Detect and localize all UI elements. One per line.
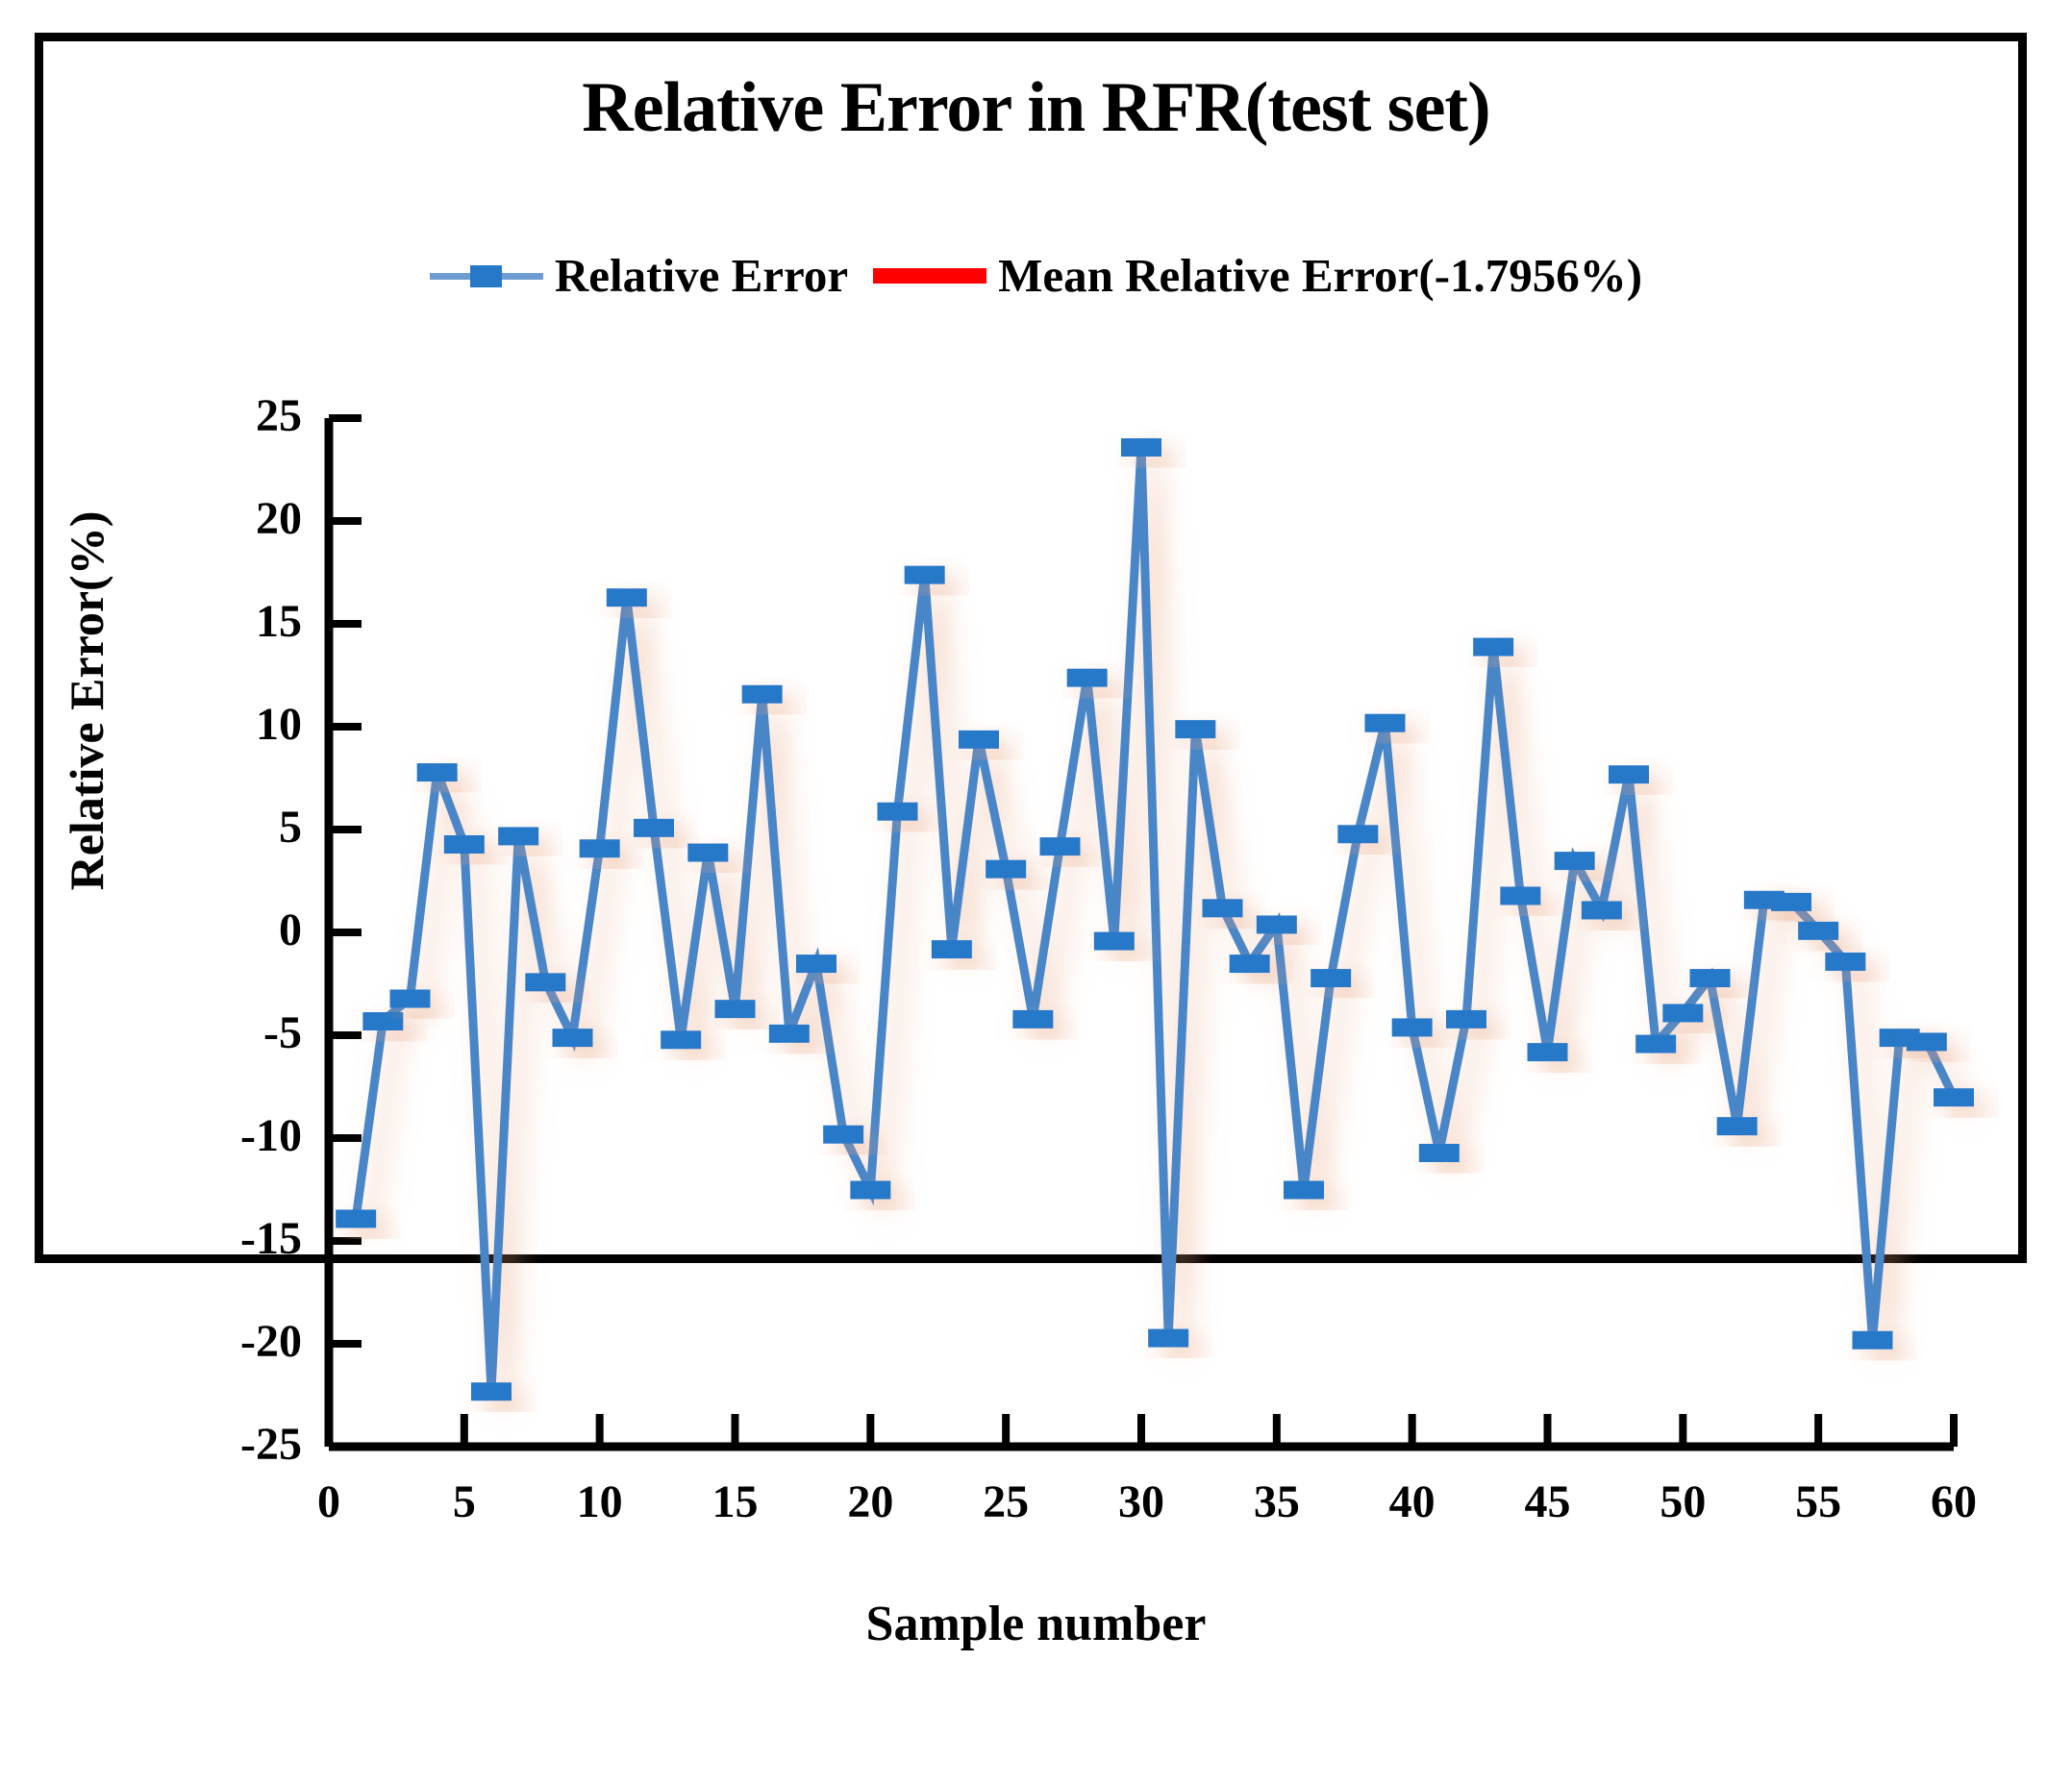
x-tick-label: 30	[1088, 1475, 1194, 1528]
y-tick-label: -20	[167, 1315, 302, 1368]
x-tick-label: 20	[817, 1475, 923, 1528]
y-tick-label: -15	[167, 1212, 302, 1265]
y-tick-label: 20	[167, 492, 302, 545]
y-tick-label: 10	[167, 698, 302, 751]
x-tick-label: 50	[1630, 1475, 1735, 1528]
y-tick-label: -5	[167, 1006, 302, 1059]
x-tick-label: 10	[547, 1475, 653, 1528]
series-relative-error	[336, 438, 1974, 1401]
figure-root: Relative Error in RFR(test set) Relative…	[0, 0, 2072, 1785]
y-tick-label: 0	[167, 904, 302, 956]
y-tick-label: -25	[167, 1418, 302, 1471]
x-tick-label: 5	[412, 1475, 517, 1528]
y-tick-label: -10	[167, 1109, 302, 1162]
x-tick-label: 25	[953, 1475, 1059, 1528]
x-tick-label: 35	[1224, 1475, 1330, 1528]
x-tick-label: 40	[1360, 1475, 1465, 1528]
y-tick-label: 5	[167, 801, 302, 854]
x-tick-label: 60	[1901, 1475, 2007, 1528]
x-tick-label: 15	[683, 1475, 788, 1528]
y-tick-label: 25	[167, 389, 302, 442]
x-tick-label: 45	[1495, 1475, 1601, 1528]
x-tick-label: 55	[1765, 1475, 1871, 1528]
x-tick-label: 0	[276, 1475, 382, 1528]
y-tick-label: 15	[167, 595, 302, 648]
